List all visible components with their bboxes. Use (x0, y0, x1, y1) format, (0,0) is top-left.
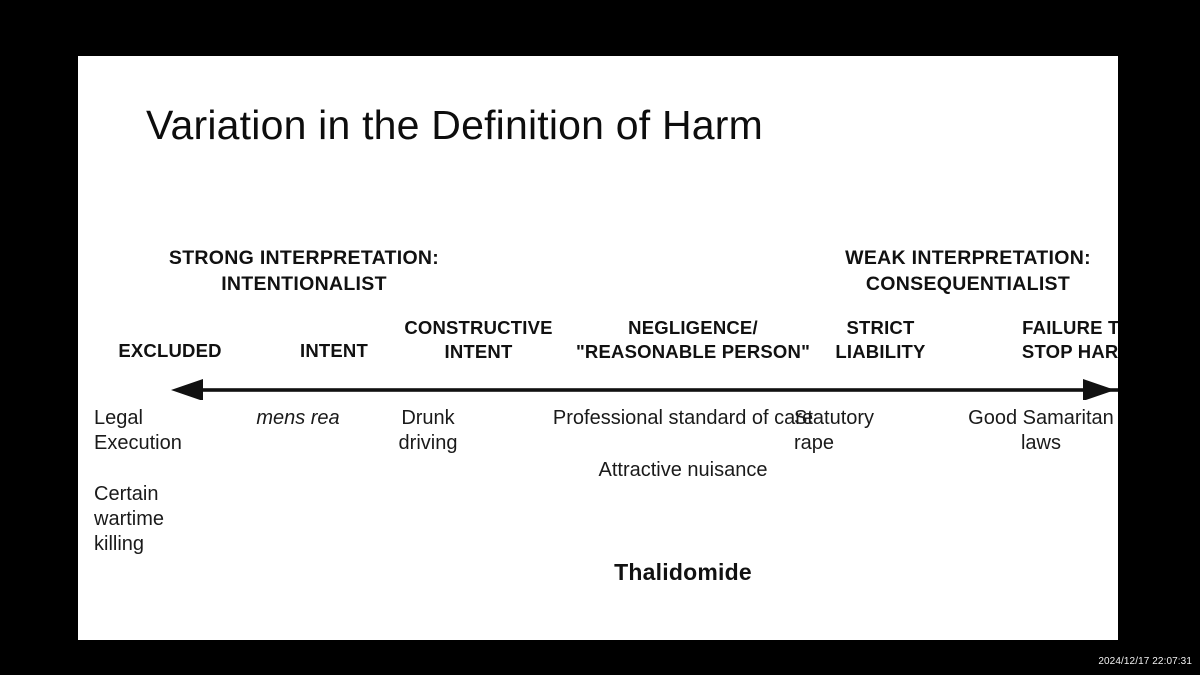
strong-interpretation-line1: STRONG INTERPRETATION: (102, 246, 506, 272)
video-frame: Variation in the Definition of Harm STRO… (0, 0, 1200, 675)
arrowhead-right-icon (1083, 379, 1115, 400)
axis-line (201, 388, 1118, 392)
example-good-samaritan-laws: Good Samaritanlaws (943, 406, 1118, 456)
spectrum-axis-arrow (93, 378, 1118, 400)
weak-interpretation-line1: WEAK INTERPRETATION: (766, 246, 1118, 272)
example-attractive-nuisance: Attractive nuisance (463, 458, 903, 483)
category-failure-line1: FAILURE TO (963, 316, 1118, 340)
category-label-failure-to-stop-harm: FAILURE TO STOP HARM (963, 316, 1118, 363)
recording-timestamp: 2024/12/17 22:07:31 (1098, 656, 1192, 667)
weak-interpretation-label: WEAK INTERPRETATION: CONSEQUENTIALIST (766, 246, 1118, 297)
strong-interpretation-line2: INTENTIONALIST (102, 272, 506, 298)
page-title: Variation in the Definition of Harm (146, 102, 763, 149)
category-label-excluded: EXCLUDED (78, 339, 280, 363)
category-excluded-line1: EXCLUDED (78, 339, 280, 363)
category-failure-line2: STOP HARM (963, 340, 1118, 364)
example-certain-wartime-killing: Certainwartimekilling (94, 482, 264, 556)
strong-interpretation-label: STRONG INTERPRETATION: INTENTIONALIST (102, 246, 506, 297)
slide-canvas: Variation in the Definition of Harm STRO… (78, 56, 1118, 640)
arrowhead-left-icon (171, 379, 203, 400)
example-thalidomide: Thalidomide (463, 559, 903, 586)
category-strict-line2: LIABILITY (773, 340, 988, 364)
weak-interpretation-line2: CONSEQUENTIALIST (766, 272, 1118, 298)
category-strict-line1: STRICT (773, 316, 988, 340)
example-statutory-rape: Statutoryrape (794, 406, 954, 456)
category-label-strict-liability: STRICT LIABILITY (773, 316, 988, 363)
